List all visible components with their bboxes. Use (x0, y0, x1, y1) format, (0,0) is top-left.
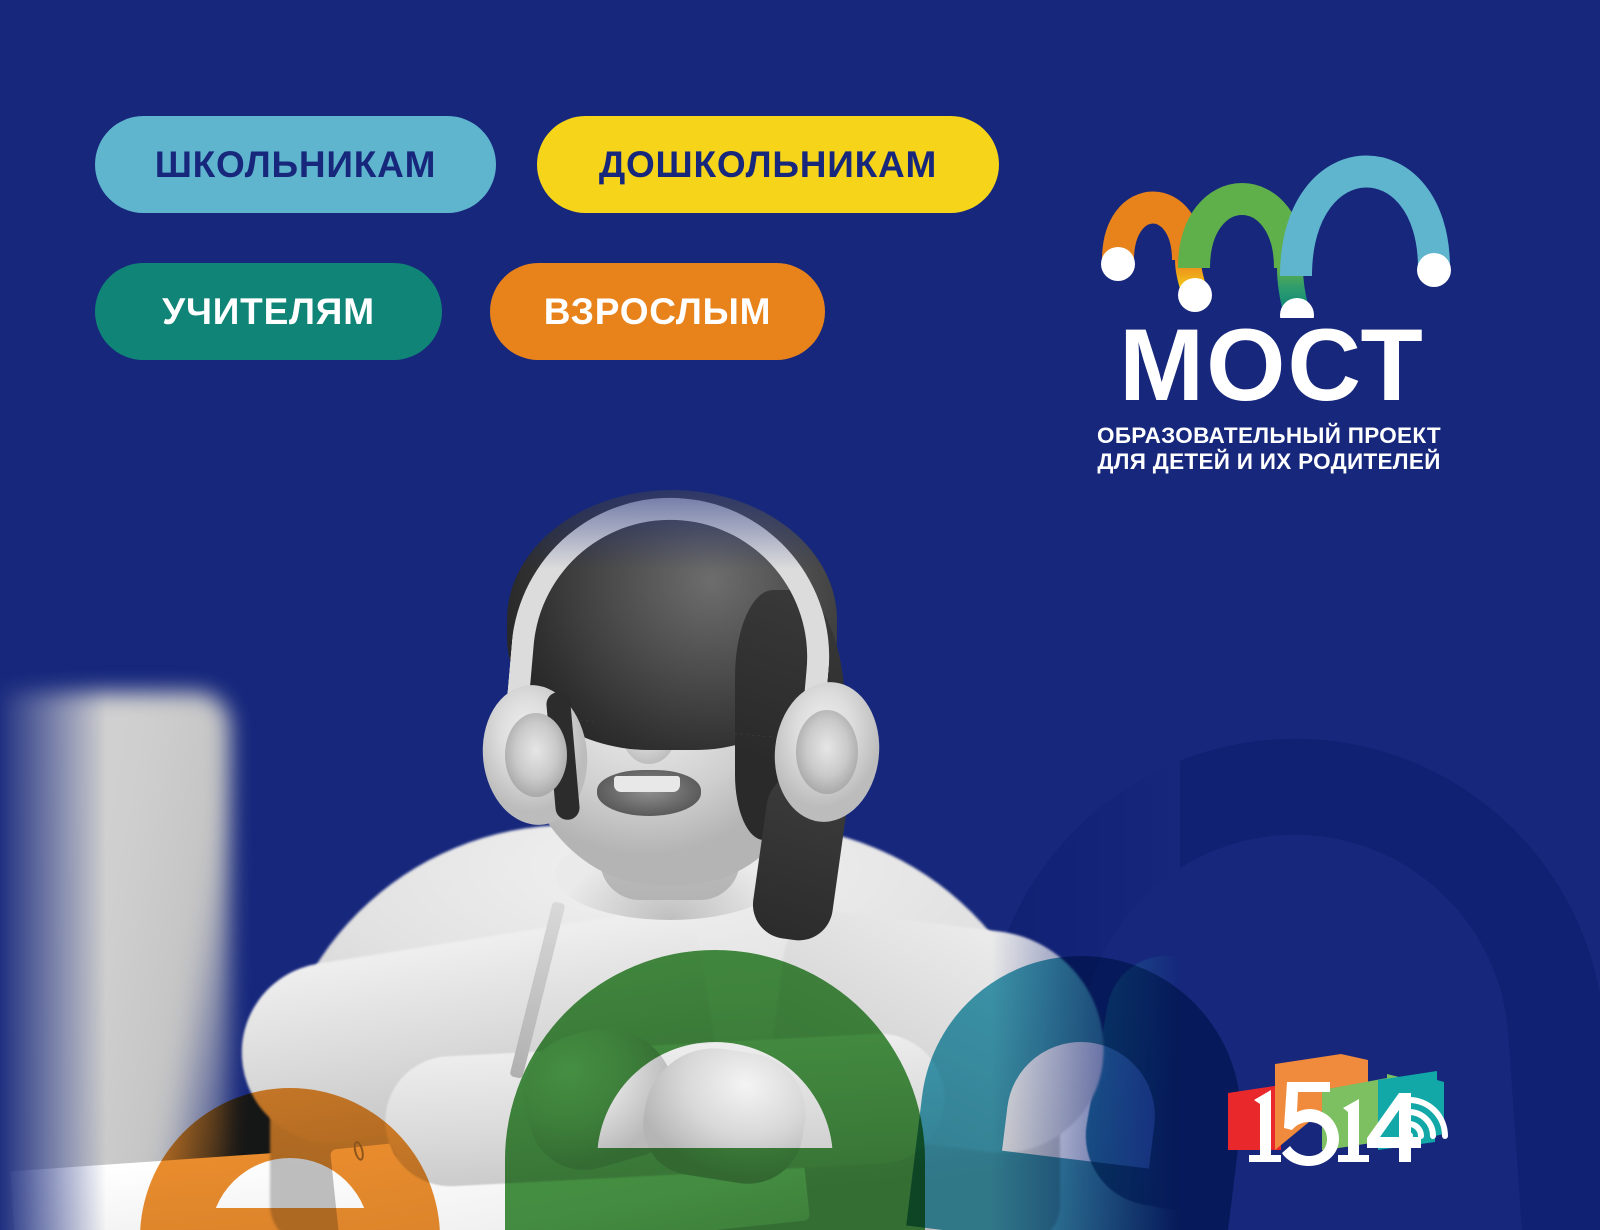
arch-cap-blue (1417, 253, 1451, 287)
pill-schoolkids[interactable]: ШКОЛЬНИКАМ (95, 116, 496, 213)
laptop-screen (0, 692, 230, 1230)
most-wordmark: МОСТ (1084, 314, 1460, 416)
ribbon-red (1228, 1085, 1281, 1150)
girl-with-headphones-photo (0, 470, 1180, 1230)
headphone-pad-left (505, 713, 567, 797)
most-tagline-line-2: ДЛЯ ДЕТЕЙ И ИХ РОДИТЕЛЕЙ (1078, 449, 1460, 474)
pill-teachers[interactable]: УЧИТЕЛЯМ (95, 263, 442, 360)
channel-1514-logo[interactable] (1213, 1038, 1448, 1173)
teeth (614, 776, 680, 792)
pill-preschoolers[interactable]: ДОШКОЛЬНИКАМ (537, 116, 999, 213)
girl-figure (215, 470, 1115, 1230)
most-tagline-line-1: ОБРАЗОВАТЕЛЬНЫЙ ПРОЕКТ (1078, 423, 1460, 448)
photo-alt-text: Чёрно-белое фото девочки в наушниках за … (0, 0, 1, 1)
poster-canvas: ШКОЛЬНИКАМ ДОШКОЛЬНИКАМ УЧИТЕЛЯМ ВЗРОСЛЫ… (0, 0, 1600, 1230)
headphone-pad-right (796, 710, 858, 794)
arch-cap-yellow (1178, 278, 1212, 312)
category-pill-row-2: УЧИТЕЛЯМ ВЗРОСЛЫМ (95, 263, 825, 360)
arch-cap-orange (1101, 247, 1135, 281)
most-logo[interactable]: МОСТ ОБРАЗОВАТЕЛЬНЫЙ ПРОЕКТ ДЛЯ ДЕТЕЙ И … (1078, 118, 1460, 480)
category-pill-row-1: ШКОЛЬНИКАМ ДОШКОЛЬНИКАМ (95, 116, 999, 213)
three-bridge-arches-icon (1078, 118, 1460, 318)
pill-adults[interactable]: ВЗРОСЛЫМ (490, 263, 825, 360)
